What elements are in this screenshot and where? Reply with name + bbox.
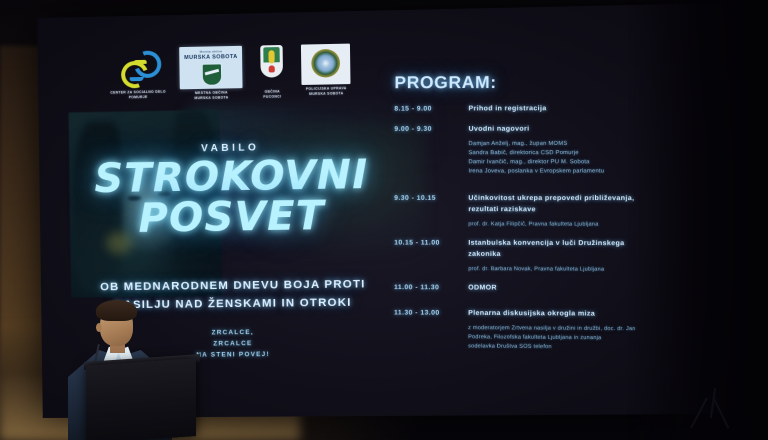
presenter-hair xyxy=(96,300,137,321)
coat-of-arms-icon xyxy=(256,45,287,88)
tripod-stand-silhouette xyxy=(690,388,736,434)
shield-crest-icon xyxy=(202,63,223,86)
program-time: 9.30 - 10.15 xyxy=(394,194,468,202)
plaque-title: MURSKA SOBOTA xyxy=(179,54,242,61)
slide-title-line1: STROKOVNI xyxy=(39,155,425,200)
slide-title-line2: POSVET xyxy=(40,196,426,240)
program-time: 8.15 - 9.00 xyxy=(394,104,468,112)
conference-photo-scene: CENTER ZA SOCIALNO DELO POMURJE Mestna o… xyxy=(0,0,768,440)
csd-pomurje-logo: CENTER ZA SOCIALNO DELO POMURJE xyxy=(110,47,166,100)
podium-lectern xyxy=(86,358,196,440)
logo-strip: CENTER ZA SOCIALNO DELO POMURJE Mestna o… xyxy=(110,42,426,121)
slide-title: STROKOVNI POSVET xyxy=(39,155,425,240)
presenter-ear xyxy=(96,323,102,332)
policijska-uprava-logo: POLICIJSKA UPRAVA MURSKA SOBOTA xyxy=(301,44,351,97)
csd-pomurje-caption: CENTER ZA SOCIALNO DELO POMURJE xyxy=(110,90,166,101)
program-time: 10.15 - 11.00 xyxy=(394,239,468,247)
mestna-obcina-murska-sobota-logo: Mestna občina MURSKA SOBOTA MESTNA OBČIN… xyxy=(179,46,243,101)
murska-sobota-caption: MESTNA OBČINA MURSKA SOBOTA xyxy=(180,90,243,101)
program-time: 11.30 - 13.00 xyxy=(394,308,468,317)
interlocking-s-icon xyxy=(115,48,160,89)
puconci-caption: OBČINA PUCONCI xyxy=(257,89,288,99)
program-time: 9.00 - 9.30 xyxy=(394,124,468,132)
murska-sobota-plaque-icon: Mestna občina MURSKA SOBOTA xyxy=(179,46,242,90)
program-time: 11.00 - 11.30 xyxy=(394,283,468,291)
policijska-uprava-caption: POLICIJSKA UPRAVA MURSKA SOBOTA xyxy=(302,86,351,97)
right-dark-vignette xyxy=(628,0,768,440)
obcina-puconci-logo: OBČINA PUCONCI xyxy=(256,45,287,100)
police-badge-icon xyxy=(301,44,351,85)
